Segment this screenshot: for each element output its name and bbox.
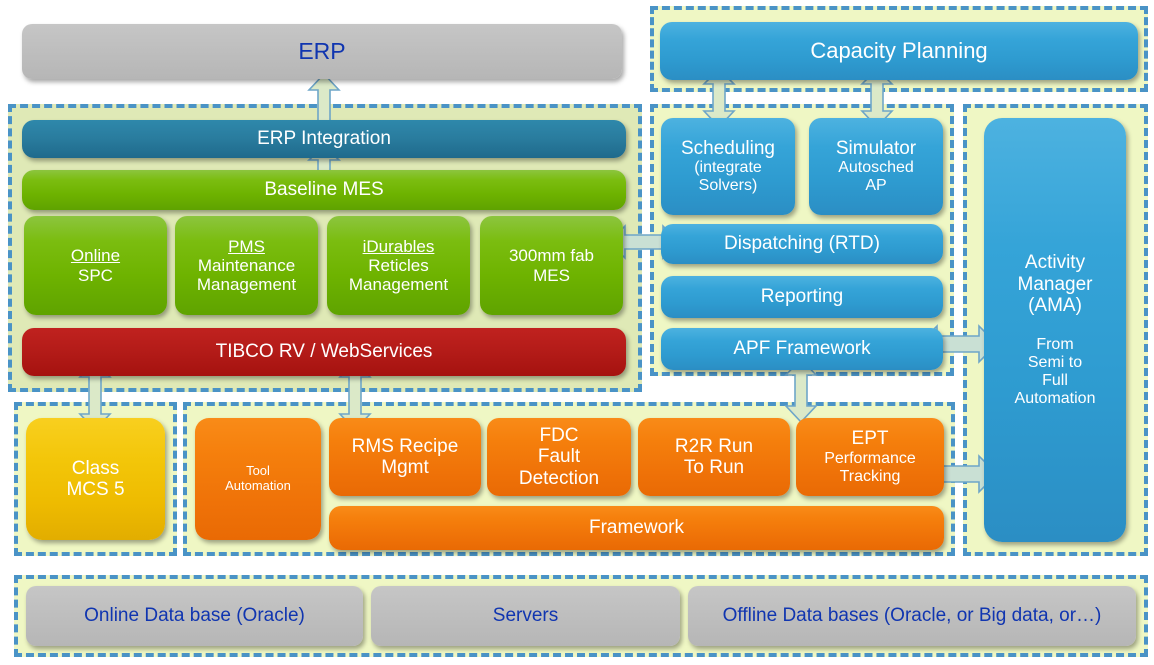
module-idurables-line1: Reticles [349, 256, 448, 275]
capacity-planning-label: Capacity Planning [810, 39, 987, 64]
erp-label: ERP [298, 39, 345, 65]
module-pms[interactable]: PMS Maintenance Management [175, 216, 318, 315]
mcs-line2: MCS 5 [66, 479, 124, 500]
mcs-box[interactable]: Class MCS 5 [26, 418, 165, 540]
simulator-line2: Autosched [836, 159, 916, 177]
simulator-box[interactable]: Simulator Autosched AP [809, 118, 943, 215]
reporting-box[interactable]: Reporting [661, 276, 943, 318]
reporting-label: Reporting [761, 286, 843, 307]
tibco-middleware-box[interactable]: TIBCO RV / WebServices [22, 328, 626, 376]
apc-framework-box[interactable]: Framework [329, 506, 944, 550]
module-idurables-line2: Management [349, 275, 448, 294]
module-online-spc-title: Online [71, 246, 120, 265]
mcs-line1: Class [66, 458, 124, 479]
dispatching-box[interactable]: Dispatching (RTD) [661, 224, 943, 264]
servers-label: Servers [493, 605, 558, 626]
online-database-box[interactable]: Online Data base (Oracle) [26, 586, 363, 646]
erp-integration-label: ERP Integration [257, 128, 391, 149]
rms-line1: RMS Recipe [352, 436, 459, 457]
module-pms-line2: Management [197, 275, 296, 294]
rms-line2: Mgmt [352, 457, 459, 478]
module-pms-line1: Maintenance [197, 256, 296, 275]
tool-automation-line1: Tool [225, 464, 291, 479]
erp-box[interactable]: ERP [22, 24, 622, 79]
module-300mm-fab-mes-title: 300mm fab [509, 246, 594, 265]
simulator-line1: Simulator [836, 138, 916, 159]
module-online-spc[interactable]: Online SPC [24, 216, 167, 315]
scheduling-box[interactable]: Scheduling (integrate Solvers) [661, 118, 795, 215]
offline-database-label: Offline Data bases (Oracle, or Big data,… [723, 605, 1102, 626]
apf-framework-label: APF Framework [733, 338, 870, 359]
tool-automation-line2: Automation [225, 479, 291, 494]
activity-manager-line5: Semi to [1015, 354, 1096, 372]
activity-manager-line7: Automation [1015, 390, 1096, 408]
ept-box[interactable]: EPT Performance Tracking [796, 418, 944, 496]
r2r-line2: To Run [675, 457, 753, 478]
fdc-line2: Fault [519, 446, 599, 467]
r2r-box[interactable]: R2R Run To Run [638, 418, 790, 496]
module-idurables[interactable]: iDurables Reticles Management [327, 216, 470, 315]
ept-line3: Tracking [824, 468, 916, 486]
ept-line2: Performance [824, 450, 916, 468]
capacity-planning-box[interactable]: Capacity Planning [660, 22, 1138, 80]
module-online-spc-line1: SPC [71, 266, 120, 285]
baseline-mes-box[interactable]: Baseline MES [22, 170, 626, 210]
scheduling-line1: Scheduling [681, 138, 775, 159]
activity-manager-line3: (AMA) [1015, 295, 1096, 316]
fdc-line1: FDC [519, 425, 599, 446]
tibco-middleware-label: TIBCO RV / WebServices [216, 341, 433, 362]
module-300mm-fab-mes[interactable]: 300mm fab MES [480, 216, 623, 315]
offline-database-box[interactable]: Offline Data bases (Oracle, or Big data,… [688, 586, 1136, 646]
ept-line1: EPT [824, 428, 916, 449]
online-database-label: Online Data base (Oracle) [84, 605, 305, 626]
activity-manager-line6: Full [1015, 372, 1096, 390]
servers-box[interactable]: Servers [371, 586, 680, 646]
architecture-diagram: ERP Capacity Planning ERP Integration Ba… [0, 0, 1154, 665]
activity-manager-box[interactable]: Activity Manager (AMA) From Semi to Full… [984, 118, 1126, 542]
module-pms-title: PMS [197, 237, 296, 256]
tool-automation-box[interactable]: Tool Automation [195, 418, 321, 540]
activity-manager-line2: Manager [1015, 274, 1096, 295]
rms-recipe-mgmt-box[interactable]: RMS Recipe Mgmt [329, 418, 481, 496]
erp-integration-box[interactable]: ERP Integration [22, 120, 626, 158]
fdc-box[interactable]: FDC Fault Detection [487, 418, 631, 496]
activity-manager-line1: Activity [1015, 252, 1096, 273]
module-300mm-fab-mes-line1: MES [509, 266, 594, 285]
scheduling-line3: Solvers) [681, 177, 775, 195]
dispatching-label: Dispatching (RTD) [724, 233, 880, 254]
simulator-line3: AP [836, 177, 916, 195]
fdc-line3: Detection [519, 468, 599, 489]
activity-manager-line4: From [1015, 336, 1096, 354]
module-idurables-title: iDurables [349, 237, 448, 256]
r2r-line1: R2R Run [675, 436, 753, 457]
scheduling-line2: (integrate [681, 159, 775, 177]
apf-framework-box[interactable]: APF Framework [661, 328, 943, 370]
activity-manager-spacer [1015, 316, 1096, 336]
apc-framework-label: Framework [589, 517, 684, 538]
baseline-mes-label: Baseline MES [264, 179, 383, 200]
